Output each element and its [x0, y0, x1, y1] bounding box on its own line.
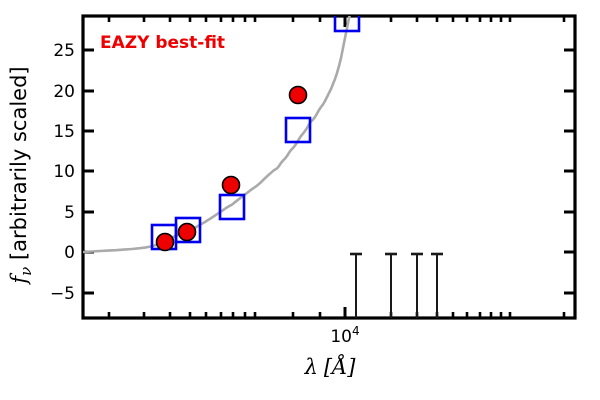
y-axis-ticks	[83, 50, 575, 293]
y-axis-label: fν [arbitrarily scaled]	[7, 66, 35, 285]
observed-photometry-circle	[157, 234, 174, 251]
y-tick-label: 5	[64, 203, 75, 223]
observed-photometry-circle	[290, 87, 307, 104]
x-axis-label: λ[Å]	[304, 354, 357, 379]
x-axis-minor-ticks	[109, 16, 564, 318]
x-axis-label-unit: [Å]	[324, 354, 356, 379]
y-tick-label: 25	[53, 41, 75, 61]
y-tick-label: 20	[53, 82, 75, 102]
y-axis-tick-labels: 2520151050−5	[50, 41, 75, 304]
axis-frame	[83, 16, 575, 318]
filter-bars-group	[350, 254, 443, 318]
plot-canvas: 2520151050−5 104 EAZY best-fit fν [arbit…	[0, 0, 600, 400]
y-axis-label-rest: [arbitrarily scaled]	[7, 66, 31, 266]
y-tick-label: 10	[53, 162, 75, 182]
svg-text:fν [arbitrarily scaled]: fν [arbitrarily scaled]	[7, 66, 35, 285]
x-tick-label: 104	[330, 324, 359, 347]
observed-photometry-markers	[157, 87, 307, 251]
y-tick-label: 15	[53, 122, 75, 142]
x-axis-label-lambda: λ	[304, 355, 318, 379]
plot-border	[83, 16, 575, 318]
eazy-sed-figure: 2520151050−5 104 EAZY best-fit fν [arbit…	[0, 0, 600, 400]
x-axis-tick-labels: 104	[330, 324, 359, 347]
y-tick-label: 0	[64, 243, 75, 263]
observed-photometry-circle	[179, 224, 196, 241]
y-tick-label: −5	[50, 284, 75, 304]
observed-photometry-circle	[223, 177, 240, 194]
svg-text:λ[Å]: λ[Å]	[304, 354, 357, 379]
y-axis-label-subscript: ν	[17, 267, 35, 276]
eazy-best-fit-annotation: EAZY best-fit	[100, 33, 225, 53]
